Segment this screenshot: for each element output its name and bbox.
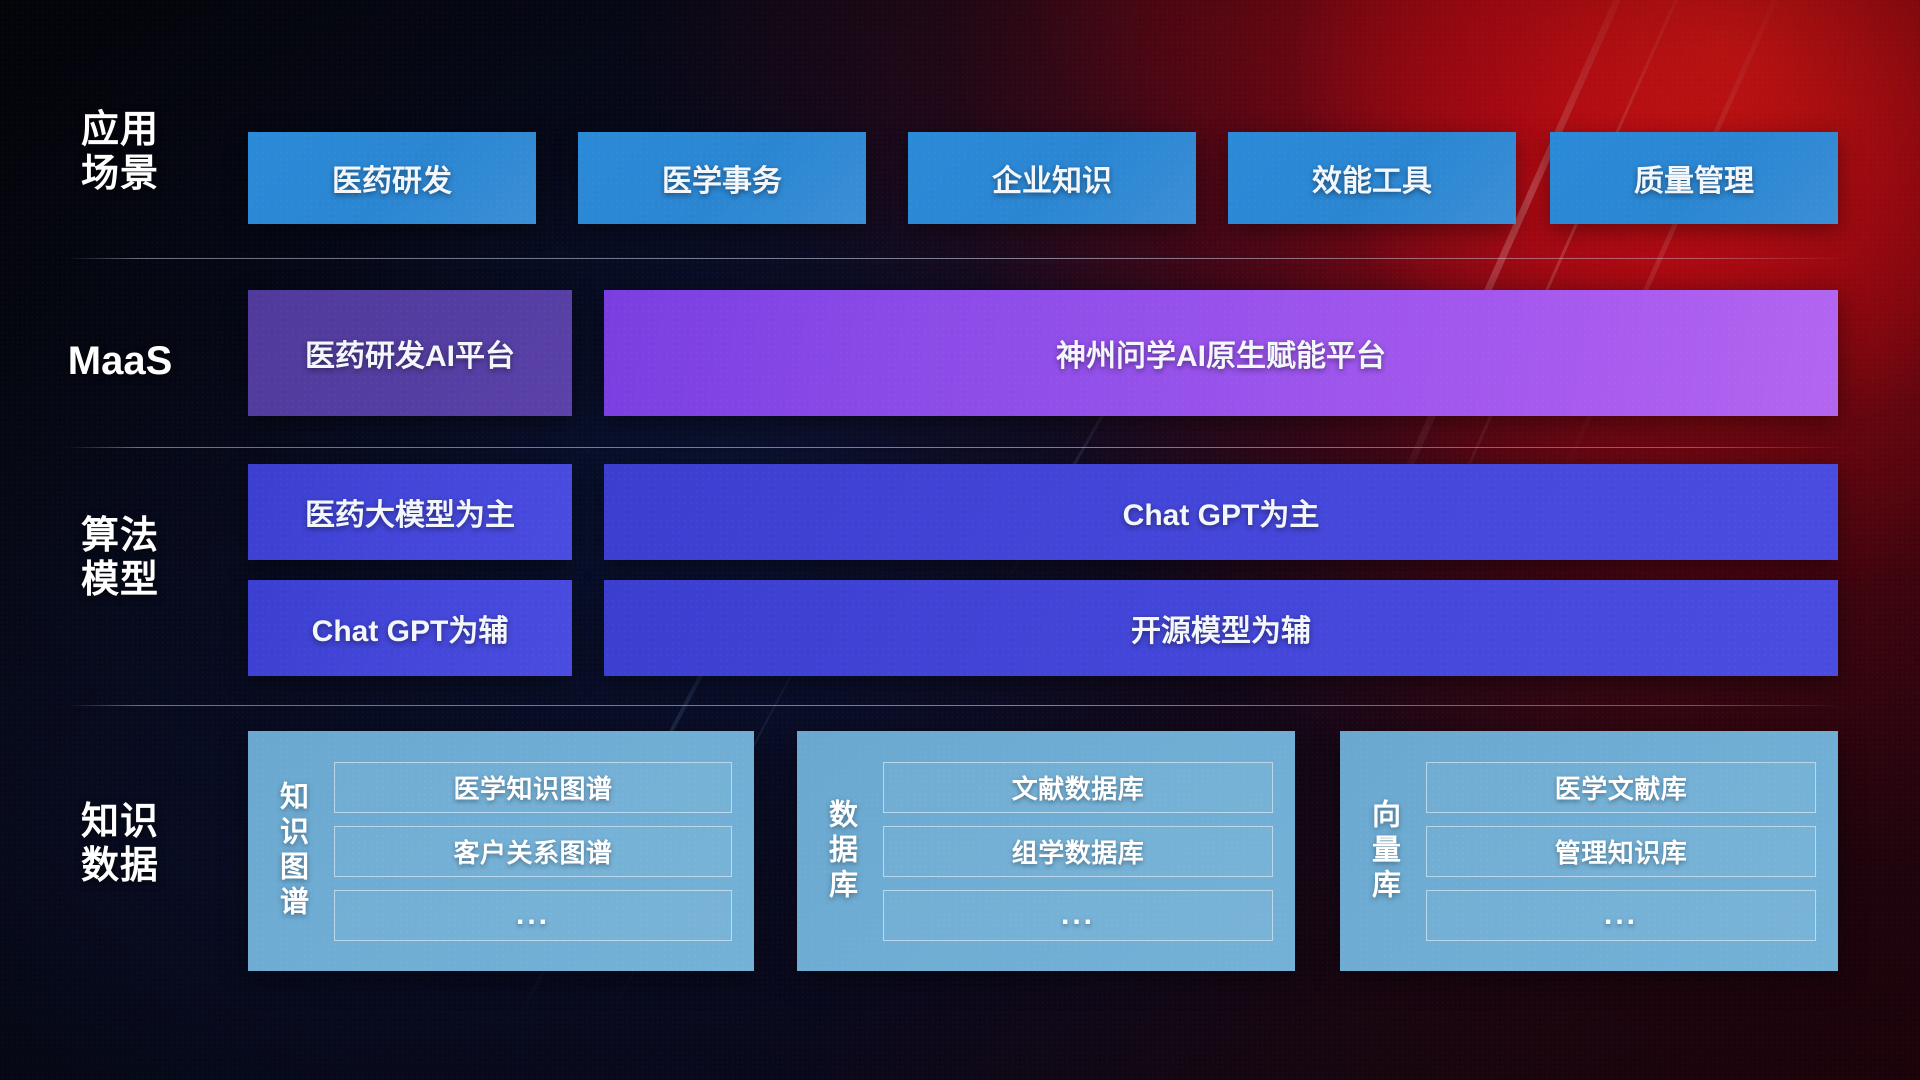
row-label-algorithm: 算法 模型	[45, 514, 195, 602]
knowledge-item[interactable]: 文献数据库	[883, 762, 1273, 813]
knowledge-group-graph-title: 知识图谱	[248, 731, 334, 971]
knowledge-group-database-title: 数据库	[797, 731, 883, 971]
algo-card-row1-right-label: Chat GPT为主	[1123, 490, 1320, 534]
knowledge-group-vector-items: 医学文献库 管理知识库 ...	[1426, 731, 1838, 971]
maas-card-left-label: 医药研发AI平台	[305, 331, 515, 375]
app-card-3[interactable]: 企业知识	[908, 132, 1196, 224]
divider-1	[70, 258, 1838, 259]
knowledge-item-more[interactable]: ...	[883, 890, 1273, 941]
app-card-4-label: 效能工具	[1312, 156, 1432, 200]
row-label-application: 应用 场景	[45, 108, 195, 196]
knowledge-group-vector[interactable]: 向量库 医学文献库 管理知识库 ...	[1340, 731, 1838, 971]
maas-card-shenzhou-platform[interactable]: 神州问学AI原生赋能平台	[604, 290, 1838, 416]
knowledge-group-graph[interactable]: 知识图谱 医学知识图谱 客户关系图谱 ...	[248, 731, 754, 971]
knowledge-item[interactable]: 管理知识库	[1426, 826, 1816, 877]
algo-card-row2-left[interactable]: Chat GPT为辅	[248, 580, 572, 676]
algo-card-row1-right[interactable]: Chat GPT为主	[604, 464, 1838, 560]
row-label-maas: MaaS	[45, 338, 195, 384]
algo-card-row2-right[interactable]: 开源模型为辅	[604, 580, 1838, 676]
diagram-content: 应用 场景 医药研发 医学事务 企业知识 效能工具 质量管理 MaaS 医药研发…	[0, 0, 1920, 1080]
app-card-4[interactable]: 效能工具	[1228, 132, 1516, 224]
knowledge-group-graph-items: 医学知识图谱 客户关系图谱 ...	[334, 731, 754, 971]
app-card-5[interactable]: 质量管理	[1550, 132, 1838, 224]
algo-card-row1-left[interactable]: 医药大模型为主	[248, 464, 572, 560]
knowledge-group-database-items: 文献数据库 组学数据库 ...	[883, 731, 1295, 971]
knowledge-item-more[interactable]: ...	[334, 890, 732, 941]
knowledge-item-more[interactable]: ...	[1426, 890, 1816, 941]
algo-card-row2-right-label: 开源模型为辅	[1131, 606, 1311, 650]
knowledge-item[interactable]: 客户关系图谱	[334, 826, 732, 877]
app-card-3-label: 企业知识	[992, 156, 1112, 200]
app-card-2-label: 医学事务	[662, 156, 782, 200]
maas-card-pharma-ai-platform[interactable]: 医药研发AI平台	[248, 290, 572, 416]
app-card-5-label: 质量管理	[1634, 156, 1754, 200]
maas-card-right-label: 神州问学AI原生赋能平台	[1056, 331, 1386, 375]
app-card-1-label: 医药研发	[332, 156, 452, 200]
algo-card-row2-left-label: Chat GPT为辅	[312, 606, 509, 650]
app-card-1[interactable]: 医药研发	[248, 132, 536, 224]
knowledge-item[interactable]: 组学数据库	[883, 826, 1273, 877]
slide-canvas: 应用 场景 医药研发 医学事务 企业知识 效能工具 质量管理 MaaS 医药研发…	[0, 0, 1920, 1080]
app-card-2[interactable]: 医学事务	[578, 132, 866, 224]
divider-2	[70, 447, 1838, 448]
knowledge-item[interactable]: 医学知识图谱	[334, 762, 732, 813]
knowledge-group-vector-title: 向量库	[1340, 731, 1426, 971]
knowledge-group-database[interactable]: 数据库 文献数据库 组学数据库 ...	[797, 731, 1295, 971]
algo-card-row1-left-label: 医药大模型为主	[305, 490, 515, 534]
divider-3	[70, 705, 1838, 706]
row-label-knowledge: 知识 数据	[45, 800, 195, 888]
knowledge-item[interactable]: 医学文献库	[1426, 762, 1816, 813]
